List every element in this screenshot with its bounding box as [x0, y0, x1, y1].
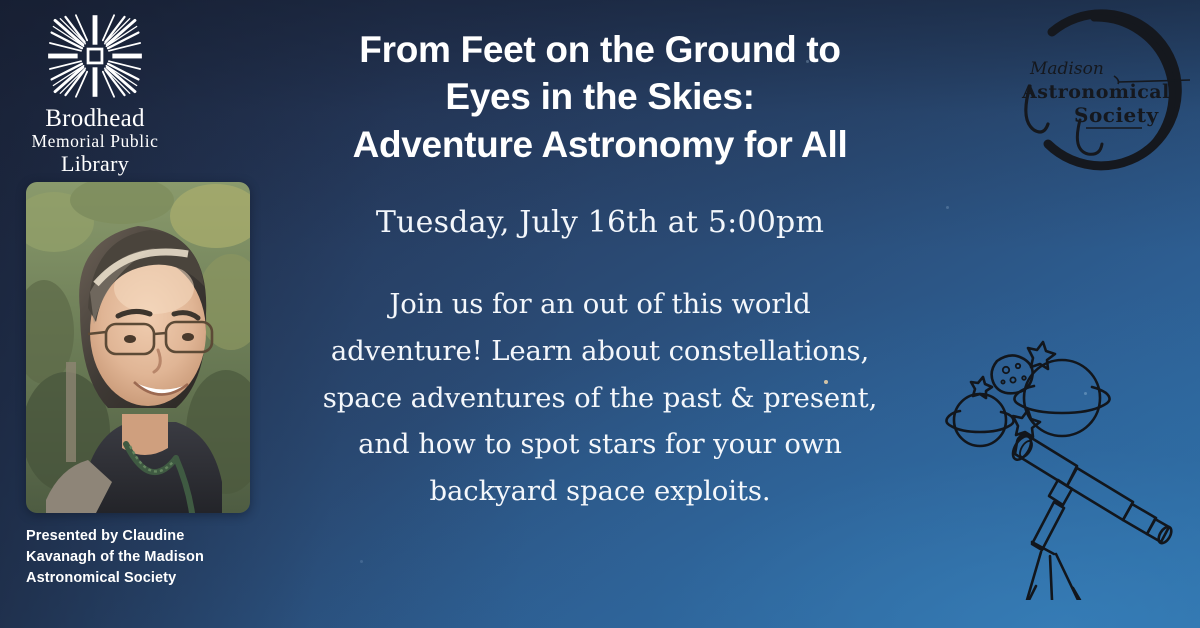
body-line2: adventure! Learn about constellations, [255, 328, 945, 375]
library-name-line2: Memorial Public [14, 133, 176, 151]
event-datetime: Tuesday, July 16th at 5:00pm [270, 205, 930, 240]
library-name-line1: Brodhead [14, 106, 176, 131]
madison-astronomical-society-icon: Madison Astronomical Society [990, 8, 1190, 176]
body-line3: space adventures of the past & present, [255, 375, 945, 422]
presenter-line3: Astronomical Society [26, 568, 276, 589]
presenter-caption: Presented by Claudine Kavanagh of the Ma… [26, 526, 276, 589]
society-word-astronomical: Astronomical [1021, 81, 1170, 103]
telescope-tube-icon [1009, 433, 1174, 545]
telescope-illustration [940, 330, 1194, 600]
body-line5: backyard space exploits. [255, 468, 945, 515]
event-poster: Brodhead Memorial Public Library [0, 0, 1200, 628]
presenter-line1: Presented by Claudine [26, 526, 276, 547]
presenter-photo [26, 182, 250, 513]
page-title: From Feet on the Ground to Eyes in the S… [270, 26, 930, 168]
headline-line1: From Feet on the Ground to [270, 26, 930, 73]
telescope-and-planets-icon [940, 330, 1194, 600]
body-line1: Join us for an out of this world [255, 281, 945, 328]
library-name-line3: Library [14, 153, 176, 175]
headline-line2: Eyes in the Skies: [270, 73, 930, 120]
presenter-line2: Kavanagh of the Madison [26, 547, 276, 568]
ringed-planet-large-icon [1014, 360, 1109, 436]
library-logo: Brodhead Memorial Public Library [14, 10, 176, 175]
society-word-madison: Madison [1029, 59, 1104, 79]
telescope-tripod-icon [1027, 480, 1080, 600]
brodhead-starburst-icon [42, 10, 148, 102]
library-wordmark: Brodhead Memorial Public Library [14, 106, 176, 175]
event-description: Join us for an out of this world adventu… [255, 281, 945, 515]
headline-line3: Adventure Astronomy for All [270, 121, 930, 168]
star-speck [360, 560, 363, 563]
ringed-planet-small-icon [946, 394, 1013, 446]
society-word-society: Society [1074, 103, 1160, 127]
presenter-photo-image [26, 182, 250, 513]
star-speck [946, 206, 949, 209]
society-logo: Madison Astronomical Society [990, 8, 1190, 176]
body-line4: and how to spot stars for your own [255, 421, 945, 468]
